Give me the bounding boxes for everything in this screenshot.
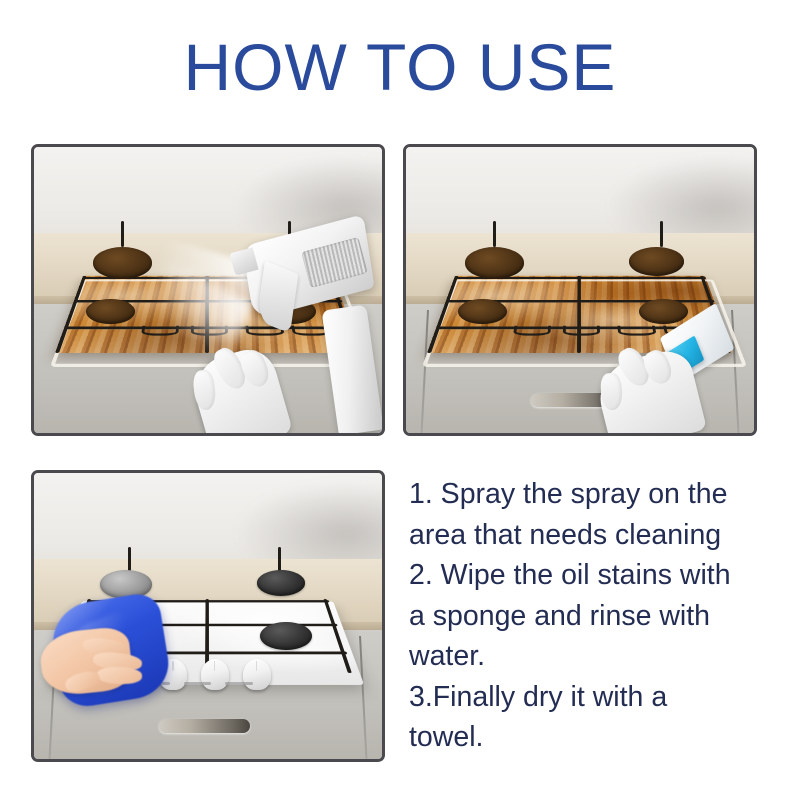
wall-shadow	[229, 479, 385, 571]
step-image-sponge	[403, 144, 757, 436]
burner-front-right	[639, 299, 688, 325]
instruction-line-1: 1. Spray the spray on the	[409, 474, 769, 515]
hob-knob-3[interactable]	[243, 659, 271, 690]
burner-back-right	[629, 247, 685, 276]
kitchen-scene-dirty-hob-spray	[34, 147, 382, 433]
knob-marking-2	[184, 682, 212, 685]
pot-support-left	[121, 221, 124, 247]
instruction-line-7: towel.	[409, 717, 769, 758]
hob-knob-2[interactable]	[201, 659, 229, 690]
pot-support-left	[493, 221, 496, 247]
instruction-line-4: a sponge and rinse with	[409, 596, 769, 637]
wall-shadow	[601, 153, 757, 245]
step-image-cloth	[31, 470, 385, 762]
instruction-line-5: water.	[409, 636, 769, 677]
knob-marking-3	[225, 682, 253, 685]
kitchen-scene-dirty-hob-sponge	[406, 147, 754, 433]
step-image-spray	[31, 144, 385, 436]
burner-back-right	[257, 570, 306, 596]
pot-support-right	[278, 547, 281, 573]
pot-support-left	[128, 547, 131, 573]
instruction-line-3: 2. Wipe the oil stains with	[409, 555, 769, 596]
pot-support-right	[660, 221, 663, 247]
page-title: HOW TO USE	[0, 34, 800, 100]
drawer-handle	[159, 719, 249, 733]
instruction-line-6: 3.Finally dry it with a	[409, 677, 769, 718]
burner-front-left	[458, 299, 507, 325]
instruction-line-2: area that needs cleaning	[409, 515, 769, 556]
instructions-text: 1. Spray the spray on the area that need…	[409, 474, 769, 758]
burner-back-left	[465, 247, 524, 278]
kitchen-scene-clean-hob-cloth	[34, 473, 382, 759]
